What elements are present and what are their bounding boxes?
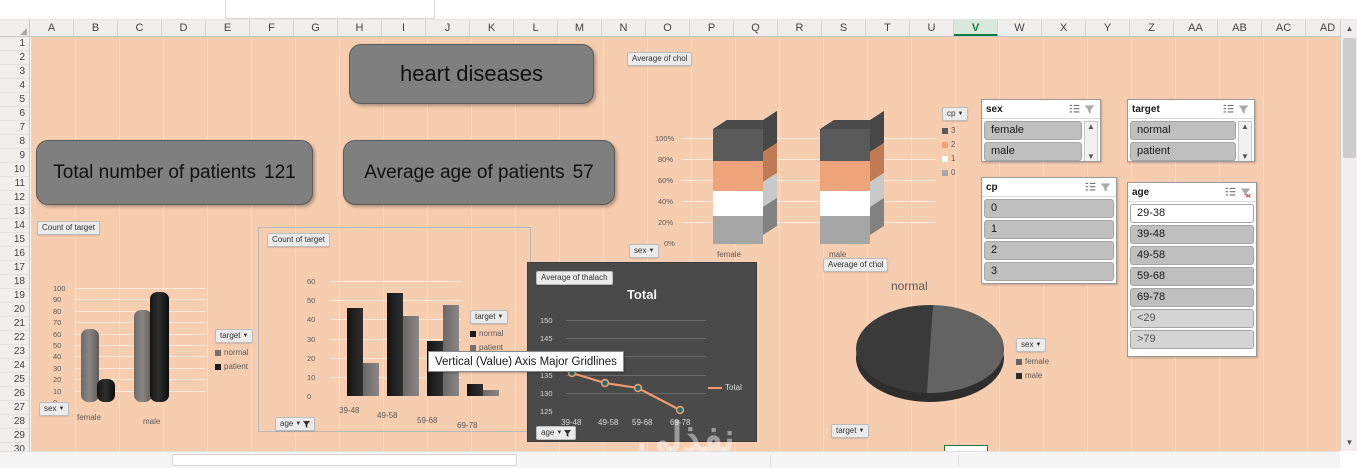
gridline xyxy=(331,281,461,282)
axis-tick-label: 80% xyxy=(658,155,673,164)
slicer-item-male[interactable]: male xyxy=(984,142,1082,161)
column-header-c[interactable]: C xyxy=(118,20,162,36)
category-label: 59-68 xyxy=(632,418,652,427)
segment-1-front xyxy=(713,191,763,216)
segment-3-front xyxy=(820,129,870,161)
axis-tick-label: 50 xyxy=(307,296,315,305)
category-label: 39-48 xyxy=(339,406,359,415)
axis-tick-label: 90 xyxy=(53,295,61,304)
chevron-down-icon: ▼ xyxy=(858,426,864,436)
row-header-22[interactable]: 22 xyxy=(0,331,29,345)
slicer-item-age-69-78[interactable]: 69-78 xyxy=(1130,288,1254,307)
row-header-5[interactable]: 5 xyxy=(0,93,29,107)
column-header-k[interactable]: K xyxy=(470,20,514,36)
legend-item-cp-1[interactable]: 1 xyxy=(942,154,968,163)
column-header-m[interactable]: M xyxy=(558,20,602,36)
column-39-48-patient[interactable] xyxy=(363,363,379,396)
name-box-region[interactable] xyxy=(225,0,435,19)
stacked-bar-female[interactable] xyxy=(713,129,763,244)
column-header-row: ABCDEFGHIJKLMNOPQRSTUVWXYZAAABACAD xyxy=(0,20,1340,37)
kpi-total-value: 121 xyxy=(264,162,296,184)
dashboard-title-shape[interactable]: heart diseases xyxy=(349,44,594,104)
multi-select-icon[interactable] xyxy=(1084,181,1097,194)
funnel-icon xyxy=(564,430,571,437)
column-49-58-normal[interactable] xyxy=(387,293,403,396)
legend-swatch xyxy=(215,350,221,356)
field-button-axis-age-line[interactable]: age ▼ xyxy=(536,426,576,440)
legend-swatch xyxy=(942,156,948,162)
row-header-1[interactable]: 1 xyxy=(0,37,29,51)
row-header-25[interactable]: 25 xyxy=(0,373,29,387)
scroll-tick xyxy=(770,455,771,466)
slicer-cp[interactable]: cp 0 1 2 3 xyxy=(981,177,1117,284)
slicer-item-age-49-58[interactable]: 49-58 xyxy=(1130,246,1254,265)
column-header-y[interactable]: Y xyxy=(1086,20,1130,36)
column-header-g[interactable]: G xyxy=(294,20,338,36)
column-header-b[interactable]: B xyxy=(74,20,118,36)
row-header-17[interactable]: 17 xyxy=(0,261,29,275)
column-header-aa[interactable]: AA xyxy=(1174,20,1218,36)
legend-item-cp-0[interactable]: 0 xyxy=(942,168,968,177)
slicer-age[interactable]: age 29-38 39-48 49-58 59-68 69-78 <29 >7… xyxy=(1127,182,1257,357)
clear-filter-icon[interactable] xyxy=(1083,103,1096,116)
legend-swatch xyxy=(470,331,476,337)
kpi-total-patients[interactable]: Total number of patients 121 xyxy=(36,140,313,205)
vertical-scroll-thumb[interactable] xyxy=(1343,38,1356,158)
row-header-29[interactable]: 29 xyxy=(0,429,29,443)
chevron-down-icon: ▼ xyxy=(497,312,503,322)
chevron-down-icon: ▼ xyxy=(1035,340,1041,350)
field-button-legend-cp[interactable]: cp ▼ xyxy=(942,107,968,121)
column-header-o[interactable]: O xyxy=(646,20,690,36)
column-header-t[interactable]: T xyxy=(866,20,910,36)
gridline xyxy=(75,288,205,289)
row-header-11[interactable]: 11 xyxy=(0,177,29,191)
axis-tick-label: 0% xyxy=(664,239,675,248)
slicer-item-age-29-38[interactable]: 29-38 xyxy=(1130,204,1254,223)
legend-swatch xyxy=(1016,373,1022,379)
category-label: 69-78 xyxy=(670,418,690,427)
row-header-28[interactable]: 28 xyxy=(0,415,29,429)
legend-item-normal[interactable]: normal xyxy=(215,348,253,357)
slicer-target[interactable]: target normal patient ▲ ▼ xyxy=(1127,99,1255,162)
field-button-values-chol-pie[interactable]: Average of chol xyxy=(823,258,888,272)
legend-target-age-chart: target ▼ normal patient xyxy=(470,310,508,352)
column-header-x[interactable]: X xyxy=(1042,20,1086,36)
slicer-item-normal[interactable]: normal xyxy=(1130,121,1236,140)
chevron-down-icon: ▼ xyxy=(58,404,64,414)
axis-tick-label: 20 xyxy=(53,375,61,384)
column-header-p[interactable]: P xyxy=(690,20,734,36)
kpi-age-value: 57 xyxy=(573,162,594,184)
select-all-corner[interactable] xyxy=(0,20,30,36)
row-header-12[interactable]: 12 xyxy=(0,191,29,205)
scroll-down-arrow[interactable]: ▼ xyxy=(1241,152,1249,162)
kpi-age-label: Average age of patients xyxy=(364,162,564,184)
scroll-down-arrow[interactable]: ▼ xyxy=(1087,152,1095,162)
legend-swatch xyxy=(942,142,948,148)
slicer-sex[interactable]: sex female male ▲ ▼ xyxy=(981,99,1101,162)
axis-tick-label: 60% xyxy=(658,176,673,185)
legend-cp: cp ▼ 3 2 1 0 xyxy=(942,107,968,177)
column-header-f[interactable]: F xyxy=(250,20,294,36)
axis-tick-label: 100 xyxy=(53,284,66,293)
row-header-15[interactable]: 15 xyxy=(0,233,29,247)
axis-tick-label: 10 xyxy=(53,387,61,396)
slicer-item-female[interactable]: female xyxy=(984,121,1082,140)
column-header-e[interactable]: E xyxy=(206,20,250,36)
clear-filter-icon[interactable] xyxy=(1237,103,1250,116)
funnel-icon xyxy=(303,421,310,428)
row-header-13[interactable]: 13 xyxy=(0,205,29,219)
horizontal-scrollbar[interactable] xyxy=(0,451,1340,468)
column-header-d[interactable]: D xyxy=(162,20,206,36)
field-button-values-chol[interactable]: Average of chol xyxy=(627,52,692,66)
row-header-19[interactable]: 19 xyxy=(0,289,29,303)
slicer-target-title: target xyxy=(1132,104,1220,115)
row-header-7[interactable]: 7 xyxy=(0,121,29,135)
slicer-cp-header: cp xyxy=(982,178,1116,197)
column-header-a[interactable]: A xyxy=(30,20,74,36)
axis-tick-label: 60 xyxy=(53,330,61,339)
chevron-down-icon: ▼ xyxy=(648,246,654,256)
slicer-item-cp-0[interactable]: 0 xyxy=(984,199,1114,218)
row-header-14[interactable]: 14 xyxy=(0,219,29,233)
column-header-w[interactable]: W xyxy=(998,20,1042,36)
slicer-age-items[interactable]: 29-38 39-48 49-58 59-68 69-78 <29 >79 xyxy=(1128,202,1256,353)
legend-target-sex-chart: target ▼ normal patient xyxy=(215,329,253,371)
clear-filter-icon[interactable] xyxy=(1239,186,1252,199)
category-label: 49-58 xyxy=(598,418,618,427)
pie-chart-title: normal xyxy=(891,279,928,293)
row-header-20[interactable]: 20 xyxy=(0,303,29,317)
category-label: female xyxy=(77,413,101,422)
axis-tick-label: 20% xyxy=(658,218,673,227)
row-header-8[interactable]: 8 xyxy=(0,135,29,149)
axis-tick-label: 40 xyxy=(53,352,61,361)
gridline xyxy=(1263,37,1264,457)
column-header-ab[interactable]: AB xyxy=(1218,20,1262,36)
column-header-u[interactable]: U xyxy=(910,20,954,36)
multi-select-icon[interactable] xyxy=(1222,103,1235,116)
kpi-average-age[interactable]: Average age of patients 57 xyxy=(343,140,615,205)
column-header-i[interactable]: I xyxy=(382,20,426,36)
category-label: 59-68 xyxy=(417,416,437,425)
chevron-down-icon: ▼ xyxy=(556,428,562,438)
axis-tick-label: 70 xyxy=(53,318,61,327)
axis-tick-label: 10 xyxy=(307,373,315,382)
slicer-sex-header: sex xyxy=(982,100,1100,119)
slicer-target-items[interactable]: normal patient ▲ ▼ xyxy=(1128,119,1254,162)
row-header-10[interactable]: 10 xyxy=(0,163,29,177)
legend-swatch xyxy=(1016,359,1022,365)
legend-swatch xyxy=(942,170,948,176)
row-header-26[interactable]: 26 xyxy=(0,387,29,401)
tooltip-text: Vertical (Value) Axis Major Gridlines xyxy=(435,356,617,368)
multi-select-icon[interactable] xyxy=(1224,186,1237,199)
axis-tick-label: 100% xyxy=(655,134,674,143)
segment-0-front xyxy=(820,216,870,244)
slicer-item-age-lt29[interactable]: <29 xyxy=(1130,309,1254,328)
column-69-78-patient[interactable] xyxy=(483,390,499,396)
legend-item-male[interactable]: male xyxy=(1016,371,1049,380)
slicer-item-age-39-48[interactable]: 39-48 xyxy=(1130,225,1254,244)
slicer-item-age-59-68[interactable]: 59-68 xyxy=(1130,267,1254,286)
cylinder-female-patient[interactable] xyxy=(97,379,115,402)
legend-item-female[interactable]: female xyxy=(1016,357,1049,366)
scroll-down-arrow[interactable]: ▼ xyxy=(1341,434,1357,451)
pie-3d-body[interactable] xyxy=(856,305,1004,393)
category-label: 49-58 xyxy=(377,411,397,420)
axis-tick-label: 60 xyxy=(307,277,315,286)
multi-select-icon[interactable] xyxy=(1068,103,1081,116)
row-header-column: 1234567891011121314151617181920212223242… xyxy=(0,37,30,457)
excel-dashboard-window: ABCDEFGHIJKLMNOPQRSTUVWXYZAAABACAD 12345… xyxy=(0,0,1357,468)
field-button-values-count-target-age[interactable]: Count of target xyxy=(267,233,330,247)
field-button-axis-sex-2[interactable]: sex ▼ xyxy=(39,402,69,416)
segment-1-front xyxy=(820,191,870,216)
axis-tick-label: 40% xyxy=(658,197,673,206)
category-label: 69-78 xyxy=(457,421,477,430)
slicer-item-patient[interactable]: patient xyxy=(1130,142,1236,161)
axis-tick-label: 50 xyxy=(53,341,61,350)
column-header-r[interactable]: R xyxy=(778,20,822,36)
sheet-canvas[interactable]: heart diseases Total number of patients … xyxy=(31,37,1340,457)
legend-swatch xyxy=(942,128,948,134)
row-header-3[interactable]: 3 xyxy=(0,65,29,79)
legend-item-total[interactable]: Total xyxy=(708,383,742,392)
row-header-24[interactable]: 24 xyxy=(0,359,29,373)
row-header-23[interactable]: 23 xyxy=(0,345,29,359)
scroll-tick xyxy=(958,455,959,466)
category-label: female xyxy=(717,250,741,259)
worksheet-top-strip xyxy=(0,0,1357,20)
slicer-item-age-gt79[interactable]: >79 xyxy=(1130,330,1254,349)
axis-tick-label: 30 xyxy=(307,335,315,344)
column-header-z[interactable]: Z xyxy=(1130,20,1174,36)
segment-3-front xyxy=(713,129,763,161)
field-button-values-count-target-sex[interactable]: Count of target xyxy=(37,221,100,235)
row-header-27[interactable]: 27 xyxy=(0,401,29,415)
vertical-scrollbar[interactable]: ▲ ▼ xyxy=(1340,20,1357,451)
slicer-item-cp-2[interactable]: 2 xyxy=(984,241,1114,260)
slicer-target-header: target xyxy=(1128,100,1254,119)
scroll-up-arrow[interactable]: ▲ xyxy=(1087,122,1095,132)
axis-tick-label: 30 xyxy=(53,364,61,373)
segment-0-front xyxy=(713,216,763,244)
cylinder-male-patient[interactable] xyxy=(150,292,169,402)
column-49-58-patient[interactable] xyxy=(403,316,419,396)
row-header-16[interactable]: 16 xyxy=(0,247,29,261)
legend-line-marker xyxy=(708,387,722,389)
chart-element-tooltip: Vertical (Value) Axis Major Gridlines xyxy=(428,351,624,372)
slicer-item-cp-1[interactable]: 1 xyxy=(984,220,1114,239)
slicer-sex-items[interactable]: female male ▲ ▼ xyxy=(982,119,1100,162)
slicer-age-title: age xyxy=(1132,187,1222,198)
legend-item-patient[interactable]: patient xyxy=(215,362,253,371)
axis-tick-label: 0 xyxy=(307,392,311,401)
slicer-cp-title: cp xyxy=(986,182,1082,193)
column-header-v[interactable]: V xyxy=(954,20,998,36)
column-header-j[interactable]: J xyxy=(426,20,470,36)
column-header-h[interactable]: H xyxy=(338,20,382,36)
column-header-l[interactable]: L xyxy=(514,20,558,36)
clear-filter-icon[interactable] xyxy=(1099,181,1112,194)
horizontal-scroll-thumb[interactable] xyxy=(172,454,517,466)
column-header-q[interactable]: Q xyxy=(734,20,778,36)
legend-item-normal[interactable]: normal xyxy=(470,329,508,338)
slicer-sex-title: sex xyxy=(986,104,1066,115)
slicer-target-scrollbar[interactable]: ▲ ▼ xyxy=(1238,121,1252,162)
kpi-total-label: Total number of patients xyxy=(53,162,256,184)
field-button-legend-target[interactable]: target ▼ xyxy=(215,329,253,343)
legend-item-cp-3[interactable]: 3 xyxy=(942,126,968,135)
field-button-legend-target-2[interactable]: target ▼ xyxy=(470,310,508,324)
slicer-age-header: age xyxy=(1128,183,1256,202)
slicer-cp-items[interactable]: 0 1 2 3 xyxy=(982,197,1116,284)
row-header-6[interactable]: 6 xyxy=(0,107,29,121)
chart-average-of-chol-stacked[interactable]: Average of chol 100% 80% 60% 40% 20% 0% xyxy=(617,52,957,242)
field-button-axis-age[interactable]: age ▼ xyxy=(275,417,315,431)
column-header-ac[interactable]: AC xyxy=(1262,20,1306,36)
chart-count-of-target-by-age[interactable]: Count of target 0102030405060 39-48 49-5… xyxy=(258,227,531,432)
gridline xyxy=(1307,37,1308,457)
legend-swatch xyxy=(215,364,221,370)
segment-2-front xyxy=(820,161,870,191)
chevron-down-icon: ▼ xyxy=(295,419,301,429)
chevron-down-icon: ▼ xyxy=(957,109,963,119)
legend-sex-pie: sex ▼ female male xyxy=(1016,338,1049,380)
scroll-up-arrow[interactable]: ▲ xyxy=(1341,20,1357,37)
row-header-9[interactable]: 9 xyxy=(0,149,29,163)
column-69-78-normal[interactable] xyxy=(467,384,483,396)
row-header-2[interactable]: 2 xyxy=(0,51,29,65)
legend-swatch xyxy=(470,345,476,351)
pie-slice-female[interactable] xyxy=(927,305,1004,393)
axis-tick-label: 80 xyxy=(53,307,61,316)
field-button-axis-sex[interactable]: sex ▼ xyxy=(629,244,659,258)
chevron-down-icon: ▼ xyxy=(242,331,248,341)
slicer-sex-scrollbar[interactable]: ▲ ▼ xyxy=(1084,121,1098,162)
segment-2-front xyxy=(713,161,763,191)
scroll-up-arrow[interactable]: ▲ xyxy=(1241,122,1249,132)
column-header-s[interactable]: S xyxy=(822,20,866,36)
chart-count-of-target-by-sex[interactable]: Count of target 0102030405060708090100 f… xyxy=(31,217,276,412)
row-header-4[interactable]: 4 xyxy=(0,79,29,93)
stacked-bar-male[interactable] xyxy=(820,129,870,244)
field-button-legend-sex-pie[interactable]: sex ▼ xyxy=(1016,338,1046,352)
column-header-n[interactable]: N xyxy=(602,20,646,36)
row-header-21[interactable]: 21 xyxy=(0,317,29,331)
column-39-48-normal[interactable] xyxy=(347,308,363,396)
axis-tick-label: 40 xyxy=(307,315,315,324)
category-label: male xyxy=(143,417,160,426)
slicer-item-cp-3[interactable]: 3 xyxy=(984,262,1114,281)
axis-tick-label: 20 xyxy=(307,354,315,363)
field-button-axis-target-pie[interactable]: target ▼ xyxy=(831,424,869,438)
legend-item-cp-2[interactable]: 2 xyxy=(942,140,968,149)
gridline xyxy=(75,299,205,300)
row-header-18[interactable]: 18 xyxy=(0,275,29,289)
dashboard-title-text: heart diseases xyxy=(400,61,543,87)
